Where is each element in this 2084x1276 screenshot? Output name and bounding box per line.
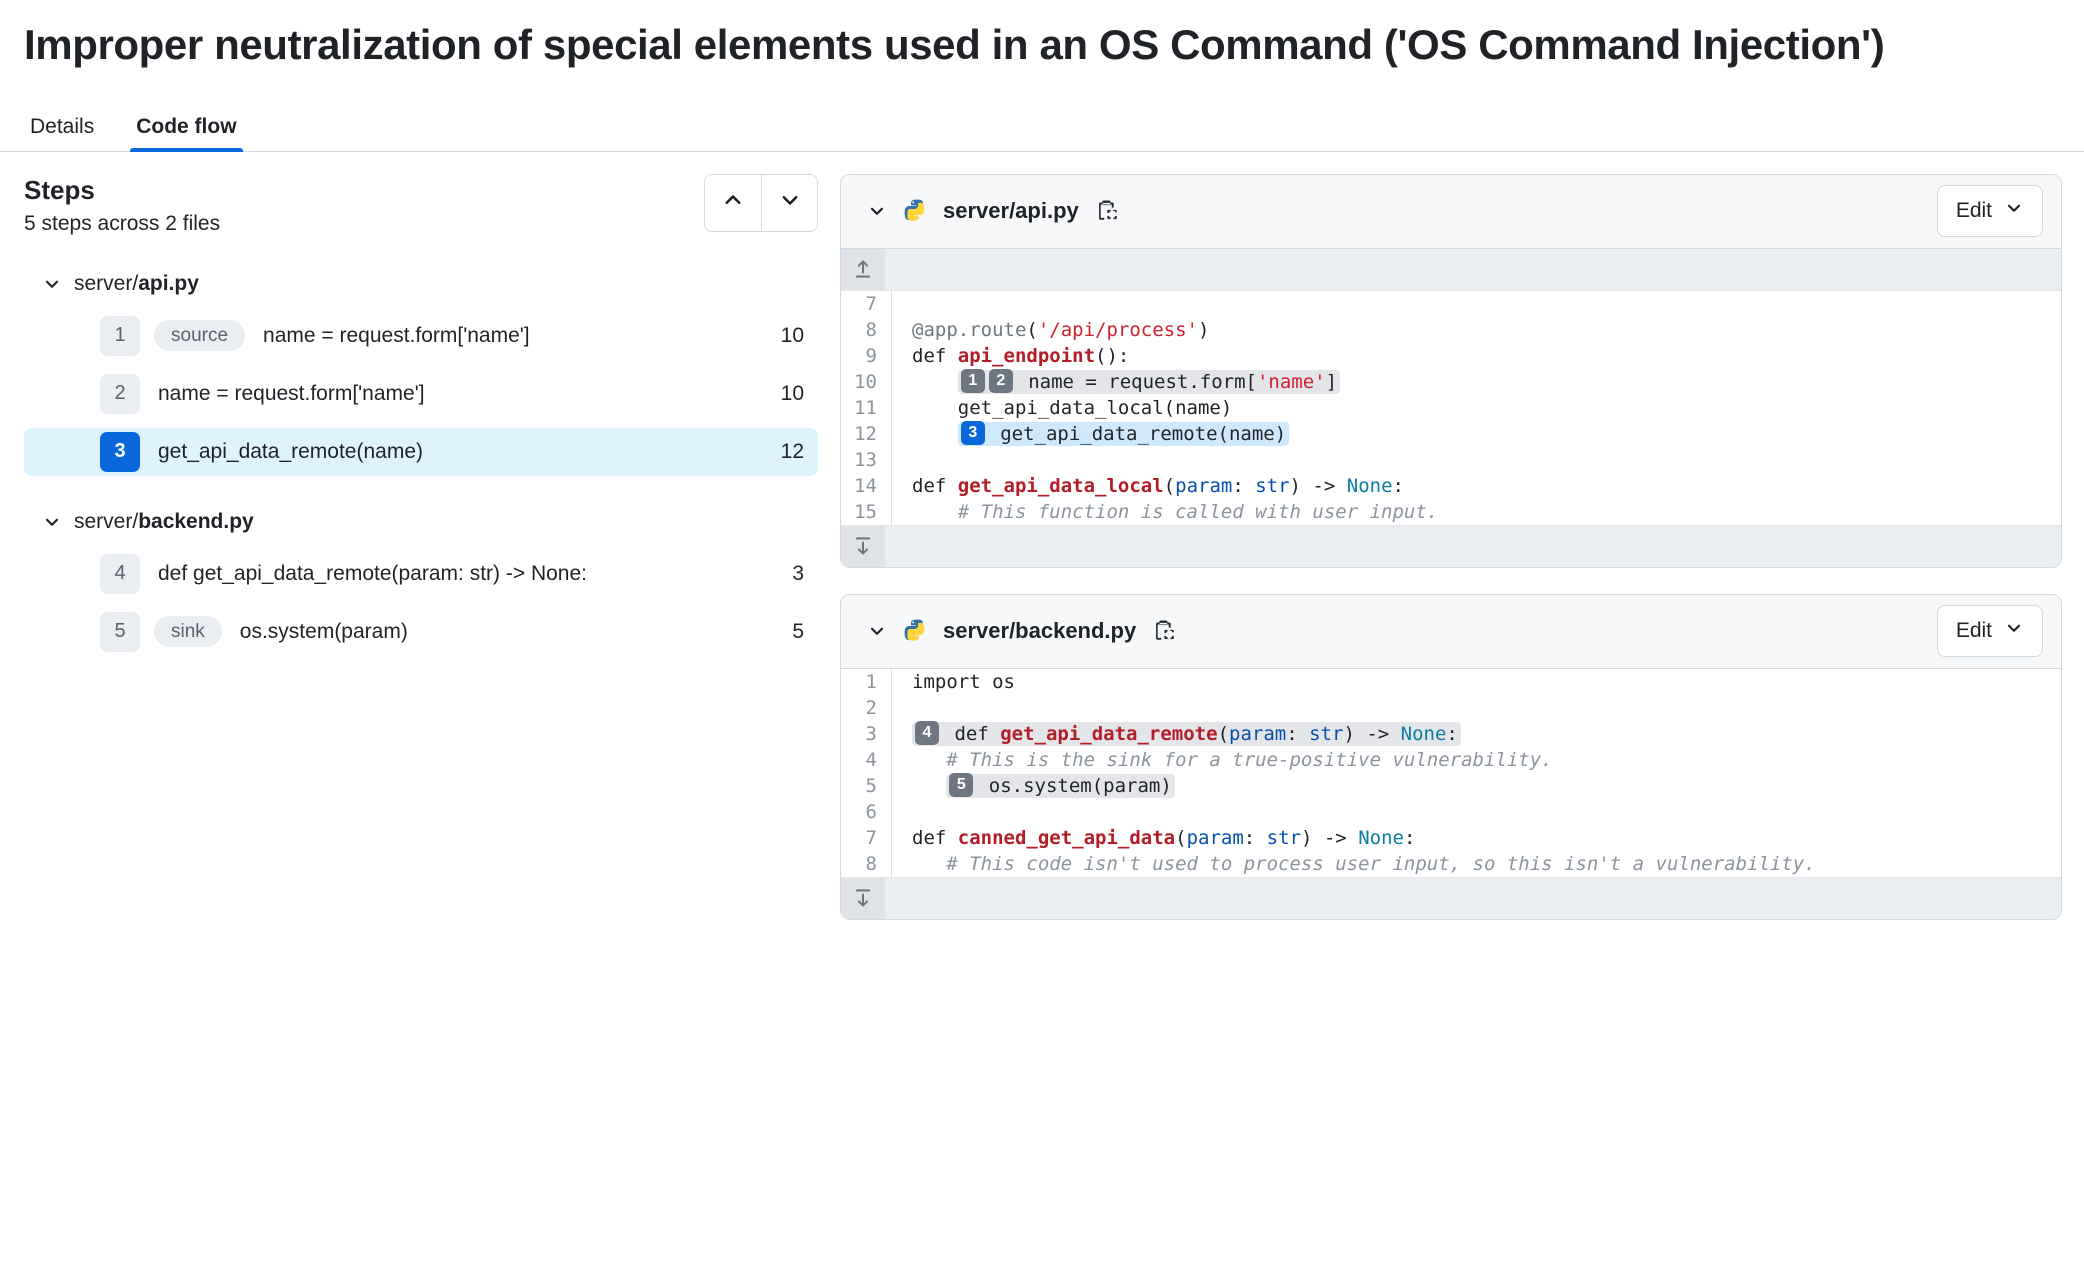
code-panel-header: server/backend.pyEdit (841, 595, 2061, 669)
tab-details[interactable]: Details (24, 116, 100, 151)
expand-down-bar (841, 525, 2061, 567)
chevron-down-icon[interactable] (867, 621, 887, 641)
code-panel: server/backend.pyEdit1import os234 def g… (840, 594, 2062, 920)
gutter-divider (891, 773, 892, 799)
code-line: 13 (841, 447, 2061, 473)
step-nav-group (704, 174, 818, 232)
code-line-number: 11 (841, 395, 891, 421)
copy-icon[interactable] (1095, 198, 1121, 224)
code-line: 8@app.route('/api/process') (841, 317, 2061, 343)
code-line-number: 14 (841, 473, 891, 499)
gutter-divider (891, 421, 892, 447)
code-line-number: 12 (841, 421, 891, 447)
gutter-divider (891, 825, 892, 851)
code-line-content: def api_endpoint(): (912, 343, 1129, 369)
code-line: 8 # This code isn't used to process user… (841, 851, 2061, 877)
gutter-divider (891, 747, 892, 773)
code-line-number: 2 (841, 695, 891, 721)
steps-heading-block: Steps 5 steps across 2 files (24, 174, 220, 238)
chevron-down-icon (42, 274, 62, 294)
edit-button[interactable]: Edit (1937, 185, 2043, 237)
step-code-text: def get_api_data_remote(param: str) -> N… (158, 562, 587, 586)
step-row[interactable]: 5sinkos.system(param)5 (24, 608, 818, 656)
code-line: 7def canned_get_api_data(param: str) -> … (841, 825, 2061, 851)
chevron-down-icon[interactable] (867, 201, 887, 221)
next-step-button[interactable] (761, 175, 817, 231)
code-line-content: 3 get_api_data_remote(name) (912, 421, 1289, 447)
previous-step-button[interactable] (705, 175, 761, 231)
step-code-text: get_api_data_remote(name) (158, 440, 423, 464)
code-line-number: 4 (841, 747, 891, 773)
step-number-badge: 3 (100, 432, 140, 472)
code-line-content: import os (912, 669, 1015, 695)
code-line-number: 8 (841, 851, 891, 877)
code-line-content: get_api_data_local(name) (912, 395, 1232, 421)
code-line-number: 3 (841, 721, 891, 747)
code-line: 15 # This function is called with user i… (841, 499, 2061, 525)
steps-file-toggle[interactable]: server/backend.py (24, 504, 818, 540)
step-line-number: 3 (776, 562, 804, 586)
code-panel-header: server/api.pyEdit (841, 175, 2061, 249)
code-line: 14def get_api_data_local(param: str) -> … (841, 473, 2061, 499)
gutter-divider (891, 851, 892, 877)
code-line: 6 (841, 799, 2061, 825)
expand-up-bar (841, 249, 2061, 291)
code-line-number: 7 (841, 291, 891, 317)
step-number-badge: 4 (100, 554, 140, 594)
step-code-text: name = request.form['name'] (158, 382, 425, 406)
code-line: 2 (841, 695, 2061, 721)
gutter-divider (891, 669, 892, 695)
code-line-number: 15 (841, 499, 891, 525)
step-line-number: 5 (776, 620, 804, 644)
edit-button-label: Edit (1956, 619, 1992, 643)
steps-file-name: server/api.py (74, 272, 199, 296)
code-panels: server/api.pyEdit78@app.route('/api/proc… (840, 174, 2084, 920)
code-line: 11 get_api_data_local(name) (841, 395, 2061, 421)
gutter-divider (891, 695, 892, 721)
steps-list: server/api.py1sourcename = request.form[… (24, 266, 818, 656)
code-line: 1import os (841, 669, 2061, 695)
chevron-down-icon (2004, 198, 2024, 224)
step-number-badge: 5 (100, 612, 140, 652)
code-line-content: def get_api_data_local(param: str) -> No… (912, 473, 1404, 499)
edit-button-label: Edit (1956, 199, 1992, 223)
code-line: 34 def get_api_data_remote(param: str) -… (841, 721, 2061, 747)
code-flow-page: Improper neutralization of special eleme… (0, 0, 2084, 1276)
code-line: 4 # This is the sink for a true-positive… (841, 747, 2061, 773)
code-panel-filename: server/backend.py (943, 618, 1136, 644)
code-line-content: def canned_get_api_data(param: str) -> N… (912, 825, 1415, 851)
page-title: Improper neutralization of special eleme… (24, 18, 2014, 72)
code-line: 12 3 get_api_data_remote(name) (841, 421, 2061, 447)
expand-down-button[interactable] (841, 878, 885, 919)
steps-subtitle: 5 steps across 2 files (24, 211, 220, 237)
page-header: Improper neutralization of special eleme… (0, 0, 2084, 72)
code-line-number: 6 (841, 799, 891, 825)
chevron-up-icon (722, 189, 744, 216)
step-code-text: os.system(param) (240, 620, 408, 644)
code-line-number: 7 (841, 825, 891, 851)
steps-file-toggle[interactable]: server/api.py (24, 266, 818, 302)
code-panel-filename: server/api.py (943, 198, 1079, 224)
code-line-content: # This function is called with user inpu… (912, 499, 1438, 525)
code-lines: 78@app.route('/api/process')9def api_end… (841, 291, 2061, 525)
code-line-content: 12 name = request.form['name'] (912, 369, 1340, 395)
code-lines: 1import os234 def get_api_data_remote(pa… (841, 669, 2061, 877)
code-line-content: 4 def get_api_data_remote(param: str) ->… (912, 721, 1461, 747)
step-line-number: 12 (765, 440, 804, 464)
step-kind-badge: source (154, 320, 245, 351)
step-code-text: name = request.form['name'] (263, 324, 530, 348)
gutter-divider (891, 447, 892, 473)
expand-down-bar (841, 877, 2061, 919)
step-line-number: 10 (765, 324, 804, 348)
code-line-number: 13 (841, 447, 891, 473)
code-line: 9def api_endpoint(): (841, 343, 2061, 369)
python-icon (903, 618, 929, 644)
tab-code-flow[interactable]: Code flow (130, 116, 242, 151)
step-line-number: 10 (765, 382, 804, 406)
steps-panel: Steps 5 steps across 2 files (0, 174, 840, 656)
gutter-divider (891, 317, 892, 343)
code-line-number: 8 (841, 317, 891, 343)
code-line-content: # This code isn't used to process user i… (912, 851, 1816, 877)
code-panel: server/api.pyEdit78@app.route('/api/proc… (840, 174, 2062, 568)
steps-file-group: server/backend.py4def get_api_data_remot… (24, 504, 818, 656)
chevron-down-icon (779, 189, 801, 216)
code-line-number: 10 (841, 369, 891, 395)
chevron-down-icon (2004, 618, 2024, 644)
step-kind-badge: sink (154, 616, 222, 647)
gutter-divider (891, 343, 892, 369)
code-line-number: 5 (841, 773, 891, 799)
expand-up-button[interactable] (841, 249, 885, 290)
code-line-content: @app.route('/api/process') (912, 317, 1209, 343)
code-line: 10 12 name = request.form['name'] (841, 369, 2061, 395)
steps-title: Steps (24, 174, 220, 207)
edit-button[interactable]: Edit (1937, 605, 2043, 657)
gutter-divider (891, 499, 892, 525)
steps-file-name: server/backend.py (74, 510, 254, 534)
step-row[interactable]: 4def get_api_data_remote(param: str) -> … (24, 550, 818, 598)
gutter-divider (891, 473, 892, 499)
gutter-divider (891, 395, 892, 421)
chevron-down-icon (42, 512, 62, 532)
content-body: Steps 5 steps across 2 files (0, 152, 2084, 920)
python-icon (903, 198, 929, 224)
code-line-number: 1 (841, 669, 891, 695)
step-number-badge: 1 (100, 316, 140, 356)
gutter-divider (891, 799, 892, 825)
code-line: 7 (841, 291, 2061, 317)
copy-icon[interactable] (1152, 618, 1178, 644)
code-line-content: # This is the sink for a true-positive v… (912, 747, 1553, 773)
tab-bar: Details Code flow (0, 98, 2084, 152)
steps-header: Steps 5 steps across 2 files (24, 174, 818, 238)
gutter-divider (891, 369, 892, 395)
step-number-badge: 2 (100, 374, 140, 414)
gutter-divider (891, 291, 892, 317)
code-line-content: 5 os.system(param) (912, 773, 1175, 799)
gutter-divider (891, 721, 892, 747)
step-row[interactable]: 3get_api_data_remote(name)12 (24, 428, 818, 476)
step-row[interactable]: 1sourcename = request.form['name']10 (24, 312, 818, 360)
code-line-number: 9 (841, 343, 891, 369)
code-line: 5 5 os.system(param) (841, 773, 2061, 799)
expand-down-button[interactable] (841, 526, 885, 567)
steps-file-group: server/api.py1sourcename = request.form[… (24, 266, 818, 476)
step-row[interactable]: 2name = request.form['name']10 (24, 370, 818, 418)
